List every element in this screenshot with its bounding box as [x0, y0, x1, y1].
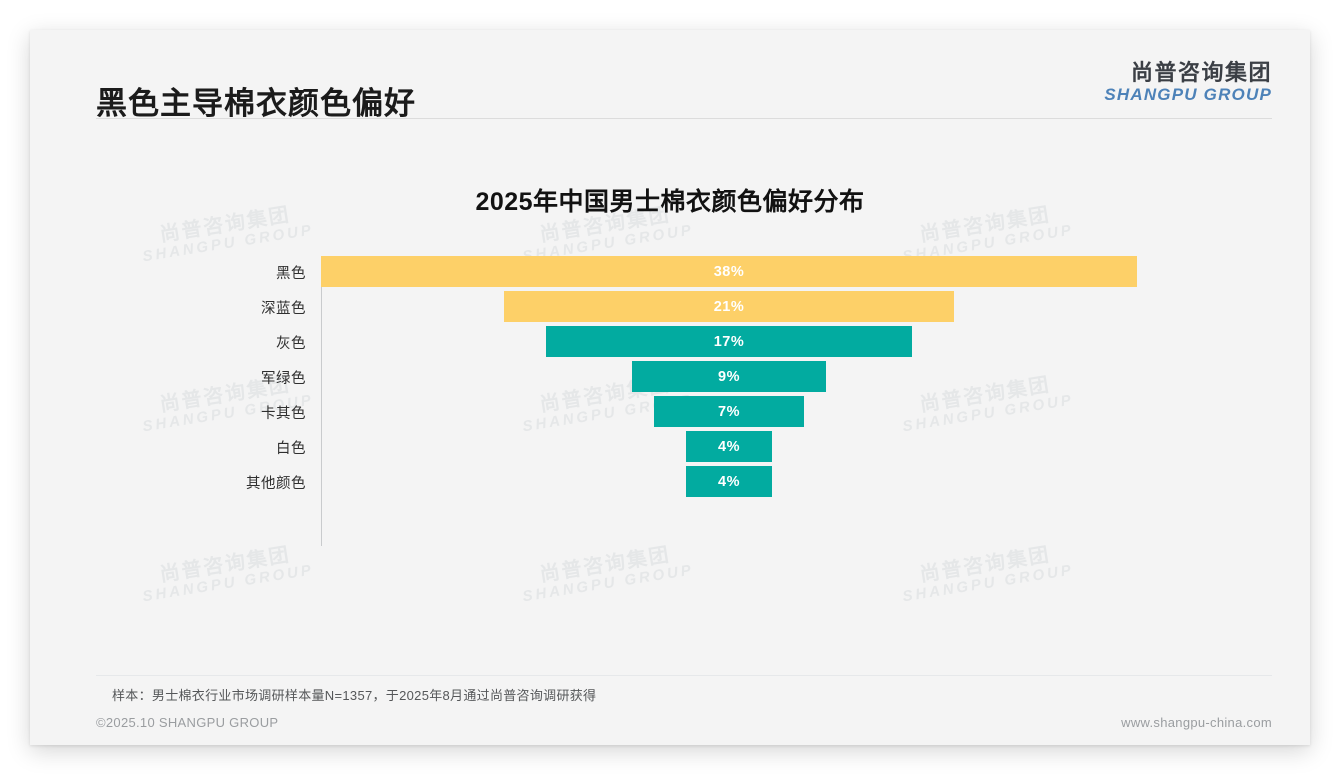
bar-value-label: 4% — [718, 474, 740, 490]
bar-row: 深蓝色21% — [80, 291, 1260, 326]
bar-value-label: 38% — [714, 264, 745, 280]
slide-canvas: 尚普咨询集团SHANGPU GROUP尚普咨询集团SHANGPU GROUP尚普… — [30, 30, 1310, 745]
bar-row: 白色4% — [80, 431, 1260, 466]
logo-chinese-text: 尚普咨询集团 — [1104, 60, 1272, 85]
bar-value-label: 9% — [718, 369, 740, 385]
bar-rows-container: 黑色38%深蓝色21%灰色17%军绿色9%卡其色7%白色4%其他颜色4% — [80, 256, 1260, 501]
bar: 38% — [321, 256, 1137, 287]
bar-category-label: 其他颜色 — [80, 472, 306, 493]
bar-chart-plot: 黑色38%深蓝色21%灰色17%军绿色9%卡其色7%白色4%其他颜色4% — [80, 256, 1260, 546]
source-footnote: 样本：男士棉衣行业市场调研样本量N=1357，于2025年8月通过尚普咨询调研获… — [112, 685, 596, 704]
website-link[interactable]: www.shangpu-china.com — [1121, 715, 1272, 730]
logo-english-text: SHANGPU GROUP — [1104, 85, 1272, 105]
company-logo: 尚普咨询集团 SHANGPU GROUP — [1104, 60, 1272, 105]
bar-row: 灰色17% — [80, 326, 1260, 361]
bar-row: 其他颜色4% — [80, 466, 1260, 501]
bar-value-label: 4% — [718, 439, 740, 455]
chart-title: 2025年中国男士棉衣颜色偏好分布 — [30, 182, 1310, 218]
bar-category-label: 白色 — [80, 437, 306, 458]
bar-category-label: 卡其色 — [80, 402, 306, 423]
bar-category-label: 黑色 — [80, 262, 306, 283]
header-divider — [96, 118, 1272, 119]
bar-category-label: 灰色 — [80, 332, 306, 353]
bar: 4% — [686, 466, 772, 497]
bar-row: 卡其色7% — [80, 396, 1260, 431]
bar-value-label: 7% — [718, 404, 740, 420]
chart-area: 2025年中国男士棉衣颜色偏好分布 黑色38%深蓝色21%灰色17%军绿色9%卡… — [30, 150, 1310, 650]
bar-category-label: 深蓝色 — [80, 297, 306, 318]
bar-value-label: 21% — [714, 299, 745, 315]
bar: 21% — [504, 291, 955, 322]
bar-value-label: 17% — [714, 334, 745, 350]
slide-header: 黑色主导棉衣颜色偏好 尚普咨询集团 SHANGPU GROUP — [30, 30, 1310, 120]
bar: 4% — [686, 431, 772, 462]
bar-row: 黑色38% — [80, 256, 1260, 291]
bar: 9% — [632, 361, 825, 392]
bar: 7% — [654, 396, 804, 427]
footnote-divider — [96, 675, 1272, 676]
bar-category-label: 军绿色 — [80, 367, 306, 388]
bar: 17% — [546, 326, 911, 357]
copyright-text: ©2025.10 SHANGPU GROUP — [96, 715, 278, 730]
slide-footer: ©2025.10 SHANGPU GROUP www.shangpu-china… — [30, 703, 1310, 745]
page-title: 黑色主导棉衣颜色偏好 — [96, 78, 416, 123]
bar-row: 军绿色9% — [80, 361, 1260, 396]
